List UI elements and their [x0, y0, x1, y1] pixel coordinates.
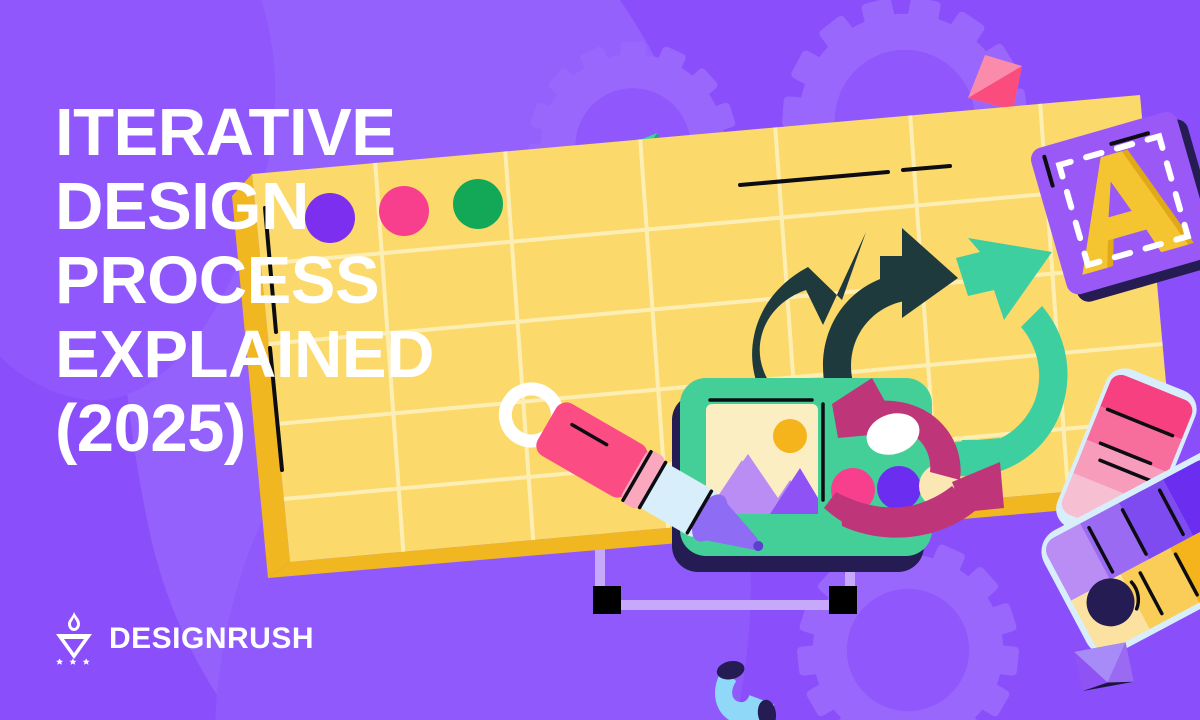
designrush-article-banner: Iterative Design Process Explained (2025…: [0, 0, 1200, 720]
logo-wordmark: DESIGNRUSH: [109, 624, 314, 654]
purple-octahedron: [1074, 642, 1134, 692]
designrush-logo[interactable]: DESIGNRUSH: [52, 608, 314, 670]
page-title: Iterative Design Process Explained (2025…: [55, 96, 575, 466]
headline-line-1: Iterative: [55, 96, 575, 170]
palette-dot-purple: [877, 466, 921, 510]
headline-line-2: Design: [55, 170, 575, 244]
torch-flame-shield-icon: [52, 610, 96, 668]
sun-icon: [773, 419, 807, 453]
headline-line-4: Explained: [55, 318, 575, 392]
blue-curved-tube: [707, 655, 786, 720]
headline-line-5: (2025): [55, 392, 575, 466]
headline-line-3: Process: [55, 244, 575, 318]
